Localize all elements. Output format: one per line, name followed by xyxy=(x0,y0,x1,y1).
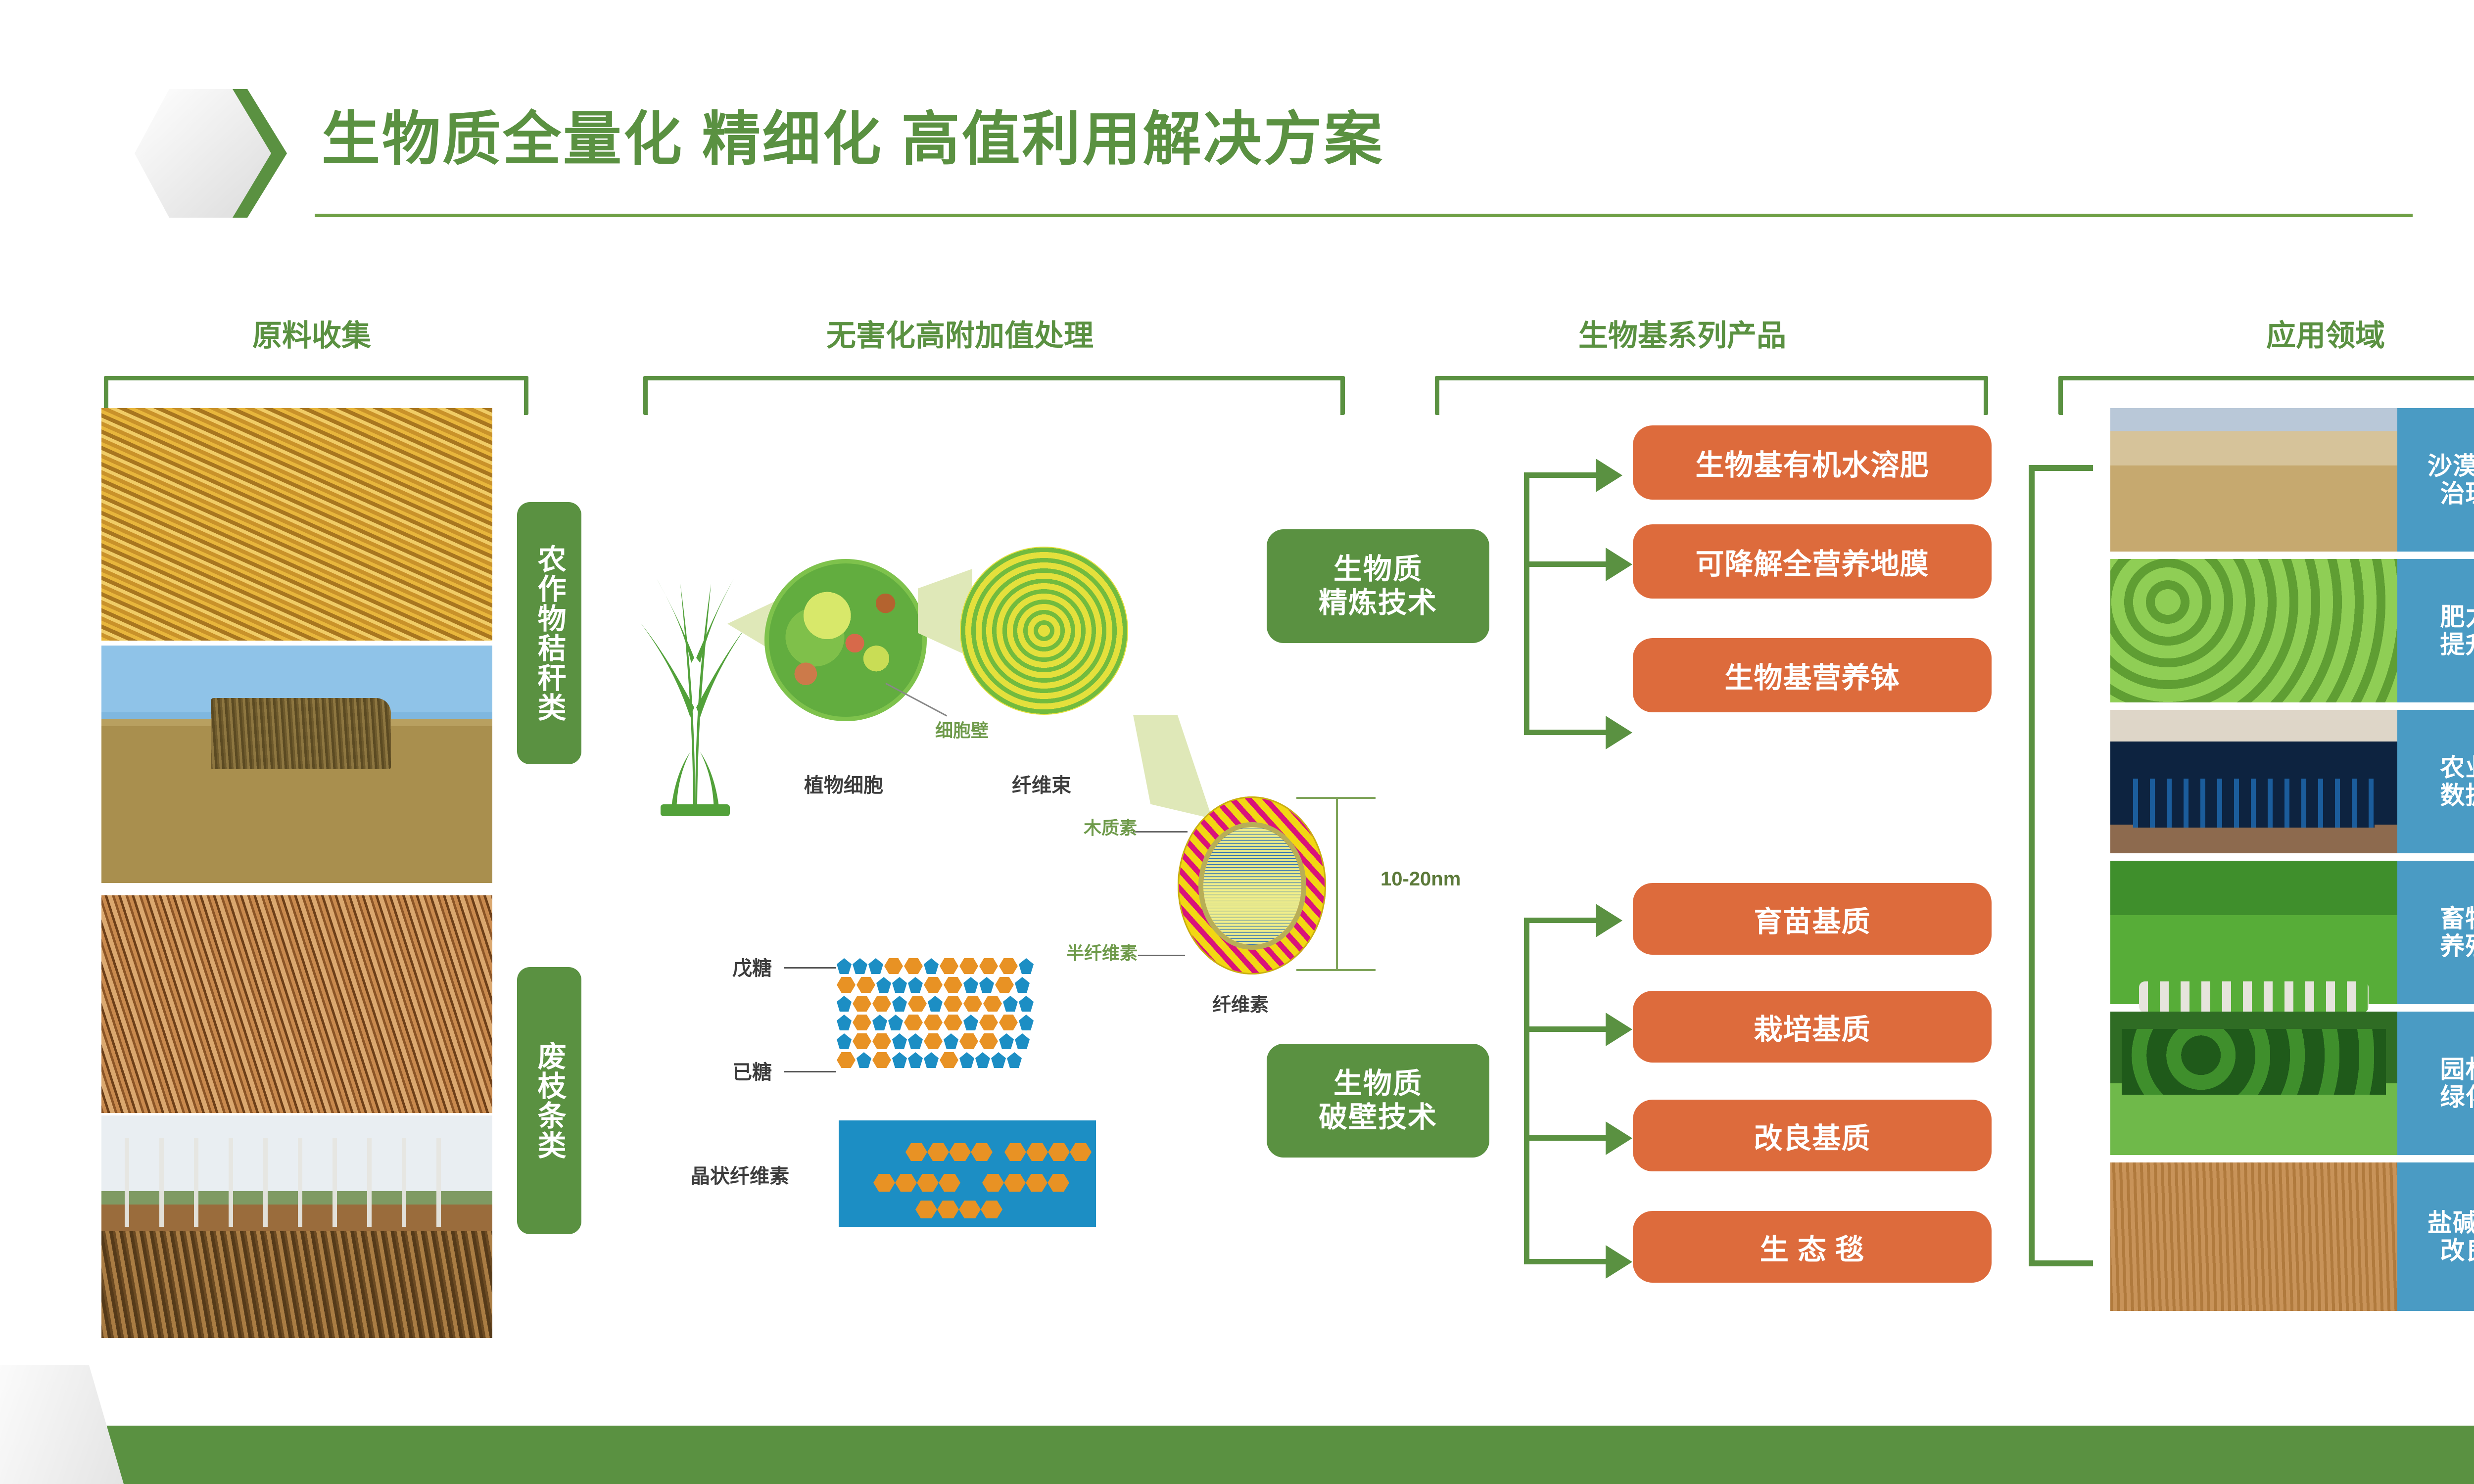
park-greening-photo xyxy=(2110,1012,2397,1155)
section-title-bio-products: 生物基系列产品 xyxy=(1385,312,1979,355)
application-row-saline[interactable]: 盐碱地 改良 xyxy=(2110,1162,2474,1311)
pentose-label: 戊糖 xyxy=(732,952,772,981)
connector-wallbreak-arm-4 xyxy=(1524,1259,1611,1264)
hexose-leader-line xyxy=(784,1071,836,1072)
dry-branches-photo xyxy=(101,895,492,1113)
section-title-application-fields: 应用领域 xyxy=(2103,312,2474,355)
tech-biomass-refining[interactable]: 生物质 精炼技术 xyxy=(1267,529,1489,643)
connector-wallbreak-arm-3 xyxy=(1524,1135,1611,1141)
lignin-label: 木质素 xyxy=(1084,814,1137,839)
arrow-to-nutrient-pot xyxy=(1606,716,1632,749)
app-desert-line1: 沙漠化 xyxy=(2427,452,2474,480)
product-bio-organic-water-soluble-fertilizer[interactable]: 生物基有机水溶肥 xyxy=(1633,425,1992,500)
desert-restoration-photo xyxy=(2110,408,2397,552)
hemicellulose-leader-line xyxy=(1138,955,1185,956)
dimension-line xyxy=(1336,798,1338,971)
application-row-agri-data[interactable]: 农业 数据 xyxy=(2110,710,2474,853)
application-bracket-bottom xyxy=(2029,1260,2093,1266)
cabbage-field-photo xyxy=(2110,559,2397,702)
arrow-to-improvement-substrate xyxy=(1606,1121,1632,1155)
hexagon-chevron-logo-icon xyxy=(134,82,302,225)
application-row-livestock[interactable]: 畜牧 养殖 xyxy=(2110,861,2474,1004)
app-livestock-line1: 畜牧 xyxy=(2440,905,2474,932)
product-degradable-full-nutrient-mulch-film[interactable]: 可降解全营养地膜 xyxy=(1633,524,1992,599)
arrow-to-seedling-substrate xyxy=(1596,904,1622,937)
app-livestock-line2: 养殖 xyxy=(2440,932,2474,960)
application-label-agricultural-data: 农业 数据 xyxy=(2397,710,2474,853)
grazing-sheep-photo xyxy=(2110,861,2397,1004)
connector-refining-spine xyxy=(1524,472,1529,735)
application-bracket-top xyxy=(2029,465,2093,471)
hexose-label: 已糖 xyxy=(732,1056,772,1085)
bracket-harmless-processing xyxy=(643,376,1345,415)
app-greening-line2: 绿化 xyxy=(2440,1083,2474,1111)
fiber-bundle-illustration xyxy=(960,547,1128,715)
app-fertility-line2: 提升 xyxy=(2440,631,2474,658)
cell-wall-label: 细胞壁 xyxy=(935,716,989,742)
app-data-line2: 数据 xyxy=(2440,782,2474,809)
application-label-fertility-improvement: 肥力 提升 xyxy=(2397,559,2474,702)
tech-wallbreak-line1: 生物质 xyxy=(1319,1067,1437,1101)
section-title-harmless-processing: 无害化高附加值处理 xyxy=(574,312,1346,355)
tech-refining-line2: 精炼技术 xyxy=(1319,586,1437,620)
pentose-leader-line xyxy=(784,967,836,969)
arrow-to-ecological-blanket xyxy=(1606,1245,1632,1279)
app-fertility-line1: 肥力 xyxy=(2440,603,2474,631)
app-saline-line2: 改良 xyxy=(2427,1237,2474,1264)
data-control-room-photo xyxy=(2110,710,2397,853)
fiber-bundle-label: 纤维束 xyxy=(1012,769,1071,798)
crystalline-cellulose-label: 晶状纤维素 xyxy=(690,1160,789,1189)
plant-cell-label: 植物细胞 xyxy=(804,769,883,798)
arrow-to-fertilizer xyxy=(1596,459,1622,492)
application-label-desertification-control: 沙漠化 治理 xyxy=(2397,408,2474,552)
application-label-saline-alkali-improvement: 盐碱地 改良 xyxy=(2397,1162,2474,1311)
application-label-landscape-greening: 园林 绿化 xyxy=(2397,1012,2474,1155)
app-data-line1: 农业 xyxy=(2440,754,2474,782)
sugar-chain-illustration xyxy=(836,957,1098,1081)
connector-wallbreak-arm-2 xyxy=(1524,1026,1611,1032)
section-title-raw-material-collection: 原料收集 xyxy=(139,312,485,355)
tech-biomass-wall-breaking[interactable]: 生物质 破壁技术 xyxy=(1267,1044,1489,1158)
connector-wallbreak-arm-1 xyxy=(1524,918,1601,923)
page-header: 生物质全量化 精细化 高值利用解决方案 xyxy=(0,0,2474,232)
application-label-livestock-breeding: 畜牧 养殖 xyxy=(2397,861,2474,1004)
product-cultivation-substrate[interactable]: 栽培基质 xyxy=(1633,991,1992,1063)
plant-cell-illustration xyxy=(764,559,927,721)
application-bracket-spine xyxy=(2029,465,2035,1266)
crystalline-cellulose-illustration xyxy=(839,1120,1096,1227)
corn-straw-photo xyxy=(101,408,492,641)
bracket-bio-products xyxy=(1435,376,1988,415)
cellulose-label: 纤维素 xyxy=(1212,989,1269,1017)
arrow-to-cultivation-substrate xyxy=(1606,1013,1632,1046)
page-title: 生物质全量化 精细化 高值利用解决方案 xyxy=(322,92,1384,176)
dimension-bottom-tick xyxy=(1296,969,1376,971)
connector-wallbreak-spine xyxy=(1524,918,1529,1264)
arrow-to-mulch-film xyxy=(1606,548,1632,581)
saline-soil-photo xyxy=(2110,1162,2397,1311)
app-saline-line1: 盐碱地 xyxy=(2427,1209,2474,1237)
waste-branch-label: 废枝条类 xyxy=(517,967,581,1234)
product-ecological-blanket[interactable]: 生 态 毯 xyxy=(1633,1211,1992,1283)
application-row-greening[interactable]: 园林 绿化 xyxy=(2110,1012,2474,1155)
title-underline xyxy=(315,214,2413,217)
connector-refining-arm-1 xyxy=(1524,472,1601,478)
tech-refining-line1: 生物质 xyxy=(1319,553,1437,586)
app-desert-line2: 治理 xyxy=(2427,480,2474,508)
grass-plant-icon xyxy=(621,510,769,816)
application-row-fertility[interactable]: 肥力 提升 xyxy=(2110,559,2474,702)
lignin-leader-line xyxy=(1133,831,1188,833)
footer-bar xyxy=(0,1426,2474,1484)
connector-refining-arm-2 xyxy=(1524,561,1611,567)
magnify-cone-3 xyxy=(1133,715,1212,819)
crop-straw-label: 农作物秸秆类 xyxy=(517,502,581,764)
product-seedling-substrate[interactable]: 育苗基质 xyxy=(1633,883,1992,955)
product-bio-based-nutrient-pot[interactable]: 生物基营养钵 xyxy=(1633,638,1992,712)
cellulose-core xyxy=(1203,827,1301,945)
product-improvement-substrate[interactable]: 改良基质 xyxy=(1633,1100,1992,1171)
dimension-label: 10-20nm xyxy=(1380,868,1461,890)
application-row-desertification[interactable]: 沙漠化 治理 xyxy=(2110,408,2474,552)
app-greening-line1: 园林 xyxy=(2440,1056,2474,1083)
tech-wallbreak-line2: 破壁技术 xyxy=(1319,1101,1437,1134)
footer-wedge-decoration xyxy=(0,1365,124,1484)
connector-refining-arm-3 xyxy=(1524,730,1611,735)
straw-bale-field-photo xyxy=(101,646,492,883)
orchard-pruning-photo xyxy=(101,1115,492,1338)
